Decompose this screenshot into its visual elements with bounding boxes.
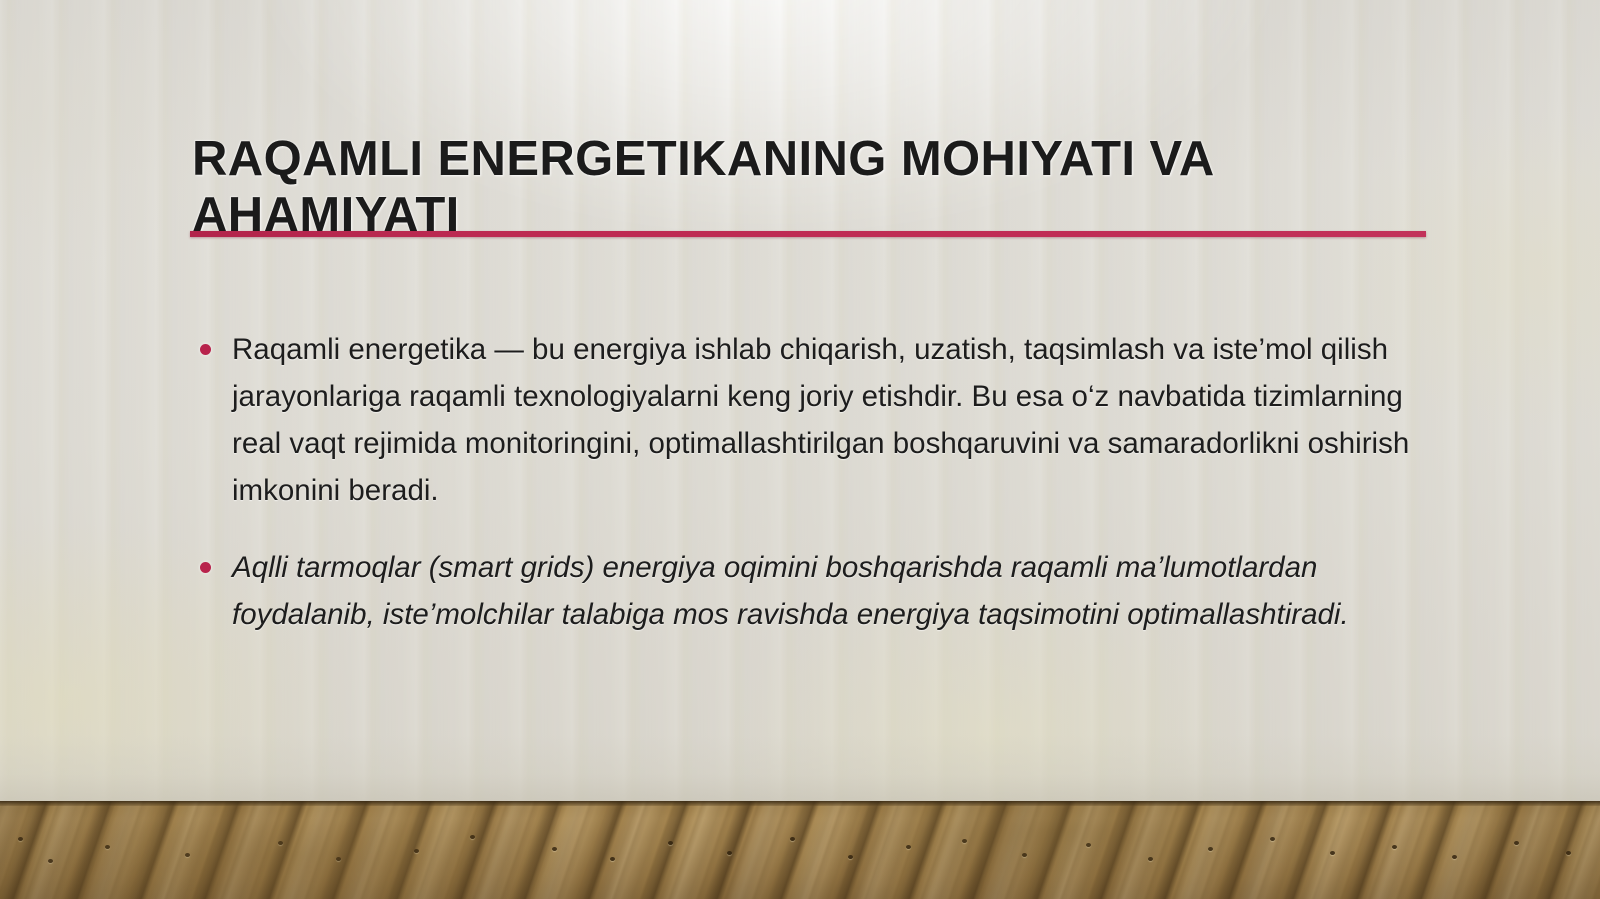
wall-bottom-shadow: [0, 735, 1600, 801]
list-item: Aqlli tarmoqlar (smart grids) energiya o…: [196, 544, 1416, 638]
bullet-dot-icon: [200, 344, 211, 355]
presentation-slide: Raqamli energetikaning mohiyati va ahami…: [0, 0, 1600, 899]
bullet-dot-icon: [200, 562, 211, 573]
list-item-text: Raqamli energetika — bu energiya ishlab …: [232, 326, 1416, 514]
list-item-text: Aqlli tarmoqlar (smart grids) energiya o…: [232, 544, 1416, 638]
wooden-floor: [0, 801, 1600, 899]
title-divider: [190, 231, 1426, 237]
slide-title: Raqamli energetikaning mohiyati va ahami…: [192, 131, 1432, 243]
list-item: Raqamli energetika — bu energiya ishlab …: [196, 326, 1416, 514]
floor-shading: [0, 801, 1600, 899]
slide-body: Raqamli energetika — bu energiya ishlab …: [196, 326, 1416, 638]
floor-top-shadow: [0, 801, 1600, 806]
